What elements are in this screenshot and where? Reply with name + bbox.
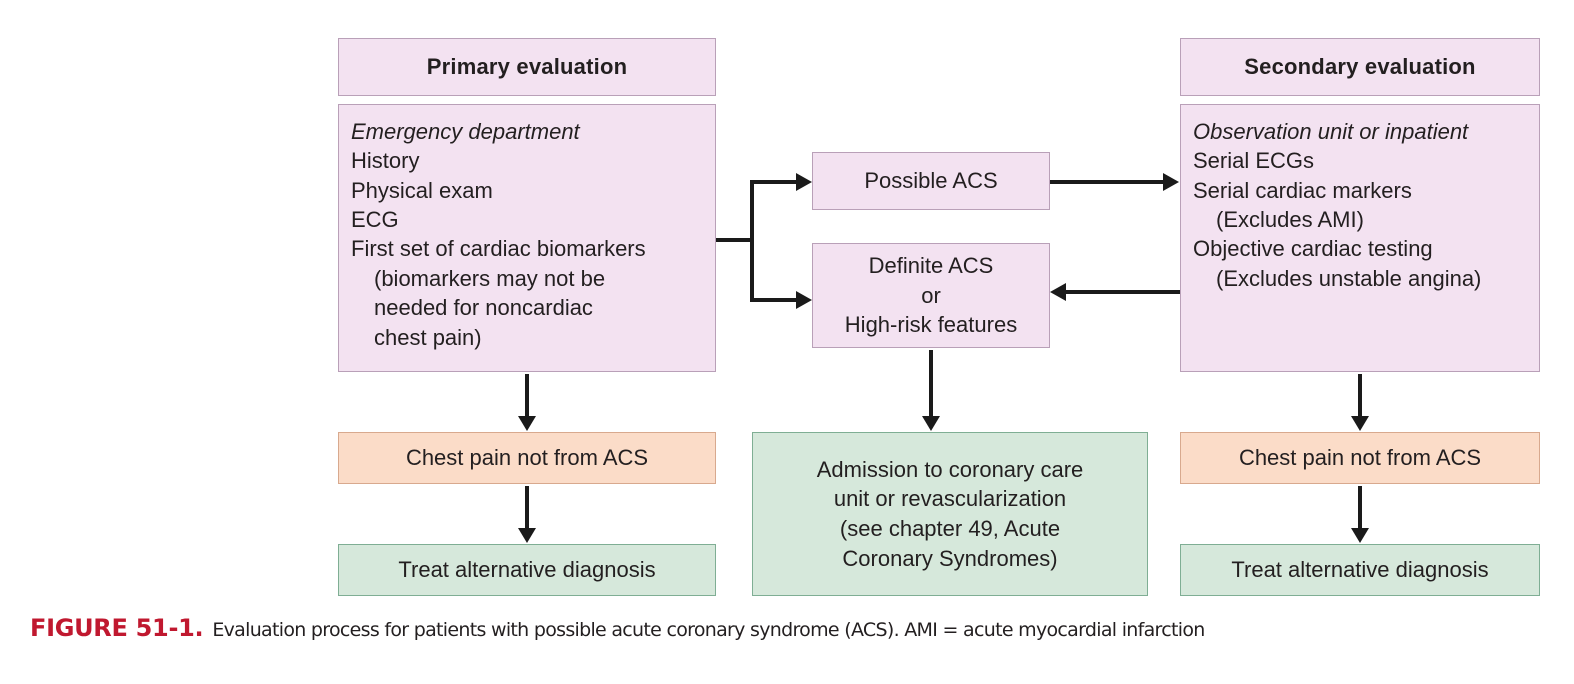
primary-outcome-box: Chest pain not from ACS <box>338 432 716 484</box>
figure-caption-label: FIGURE 51-1. <box>30 614 203 642</box>
primary-treatment-label: Treat alternative diagnosis <box>398 555 655 585</box>
arrow-primary-outcome-to-treatment-line <box>525 486 529 532</box>
split-arrow-branch-lower-head <box>796 291 812 309</box>
admission-box: Admission to coronary care unit or revas… <box>752 432 1148 596</box>
possible-acs-label: Possible ACS <box>864 166 997 196</box>
primary-evaluation-header-label: Primary evaluation <box>427 54 627 80</box>
primary-item-ecg: ECG <box>351 205 715 234</box>
secondary-evaluation-header-label: Secondary evaluation <box>1244 54 1475 80</box>
figure-caption: FIGURE 51-1.Evaluation process for patie… <box>30 614 1530 642</box>
secondary-item-objective-cardiac-testing: Objective cardiac testing <box>1193 234 1539 263</box>
arrow-secondary-to-definite-acs-line <box>1066 290 1180 294</box>
arrow-secondary-outcome-to-treatment-line <box>1358 486 1362 532</box>
primary-subitem-1: (biomarkers may not be <box>351 264 715 293</box>
primary-item-biomarkers: First set of cardiac biomarkers <box>351 234 715 263</box>
primary-subitem-3: chest pain) <box>351 323 715 352</box>
arrow-secondary-to-outcome-head <box>1351 416 1369 431</box>
primary-evaluation-body-box: Emergency department History Physical ex… <box>338 104 716 372</box>
split-arrow-branch-upper-head <box>796 173 812 191</box>
arrow-possible-acs-to-secondary-line <box>1050 180 1166 184</box>
arrow-primary-to-outcome-head <box>518 416 536 431</box>
primary-item-history: History <box>351 146 715 175</box>
primary-setting-label: Emergency department <box>351 117 715 146</box>
primary-evaluation-header-box: Primary evaluation <box>338 38 716 96</box>
secondary-subitem-excludes-ami: (Excludes AMI) <box>1193 205 1539 234</box>
secondary-treatment-box: Treat alternative diagnosis <box>1180 544 1540 596</box>
split-arrow-branch-upper <box>750 180 798 184</box>
secondary-evaluation-header-box: Secondary evaluation <box>1180 38 1540 96</box>
possible-acs-box: Possible ACS <box>812 152 1050 210</box>
split-arrow-riser <box>750 180 754 302</box>
admission-label: Admission to coronary care unit or revas… <box>817 455 1084 574</box>
secondary-treatment-label: Treat alternative diagnosis <box>1231 555 1488 585</box>
arrow-secondary-to-definite-acs-head <box>1050 283 1066 301</box>
split-arrow-branch-lower <box>750 298 798 302</box>
definite-acs-box: Definite ACS or High-risk features <box>812 243 1050 348</box>
arrow-definite-acs-to-admission-line <box>929 350 933 420</box>
secondary-item-serial-cardiac-markers: Serial cardiac markers <box>1193 176 1539 205</box>
primary-item-physical-exam: Physical exam <box>351 176 715 205</box>
arrow-definite-acs-to-admission-head <box>922 416 940 431</box>
arrow-primary-to-outcome-line <box>525 374 529 420</box>
primary-treatment-box: Treat alternative diagnosis <box>338 544 716 596</box>
secondary-outcome-box: Chest pain not from ACS <box>1180 432 1540 484</box>
flowchart-figure: Primary evaluation Emergency department … <box>0 0 1574 684</box>
secondary-outcome-label: Chest pain not from ACS <box>1239 443 1481 473</box>
arrow-possible-acs-to-secondary-head <box>1163 173 1179 191</box>
secondary-item-serial-ecgs: Serial ECGs <box>1193 146 1539 175</box>
arrow-secondary-to-outcome-line <box>1358 374 1362 420</box>
primary-outcome-label: Chest pain not from ACS <box>406 443 648 473</box>
split-arrow-stem <box>716 238 754 242</box>
secondary-setting-label: Observation unit or inpatient <box>1193 117 1539 146</box>
secondary-subitem-excludes-unstable-angina: (Excludes unstable angina) <box>1193 264 1539 293</box>
primary-subitem-2: needed for noncardiac <box>351 293 715 322</box>
definite-acs-label: Definite ACS or High-risk features <box>845 251 1017 340</box>
secondary-evaluation-body-box: Observation unit or inpatient Serial ECG… <box>1180 104 1540 372</box>
arrow-primary-outcome-to-treatment-head <box>518 528 536 543</box>
arrow-secondary-outcome-to-treatment-head <box>1351 528 1369 543</box>
figure-caption-text: Evaluation process for patients with pos… <box>212 619 1204 641</box>
